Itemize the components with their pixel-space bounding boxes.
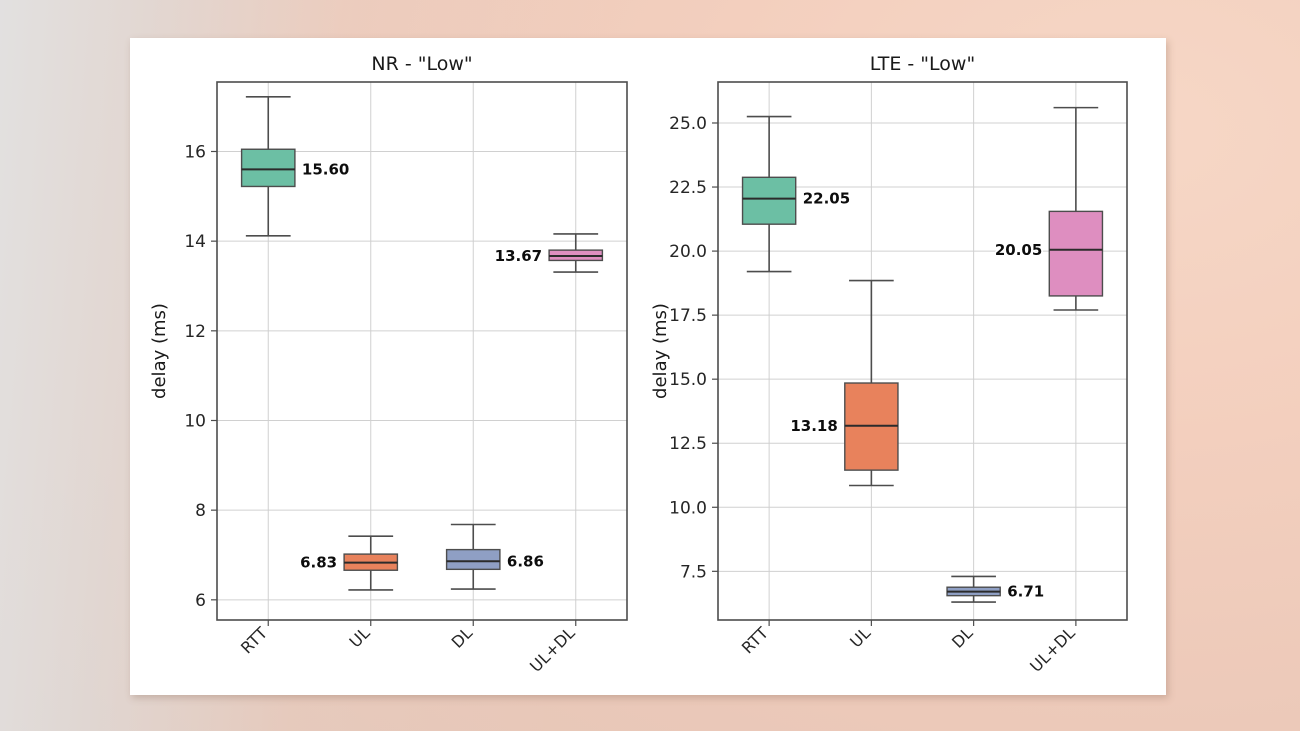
x-tick-label-dl: DL <box>948 623 977 652</box>
median-value-label: 6.83 <box>300 554 337 572</box>
box-body <box>447 550 500 570</box>
boxplot-figure-svg: NR - "Low"6810121416RTTULDLUL+DLdelay (m… <box>130 38 1166 695</box>
median-value-label: 13.67 <box>495 247 542 265</box>
boxplot-ul: 6.83 <box>300 536 397 590</box>
boxplot-dl: 6.71 <box>947 576 1044 602</box>
y-tick-label: 10.0 <box>669 498 707 518</box>
y-tick-label: 6 <box>195 591 206 611</box>
y-axis-label: delay (ms) <box>149 303 170 399</box>
x-tick-label-ul-dl: UL+DL <box>526 623 579 676</box>
y-tick-label: 20.0 <box>669 242 707 262</box>
x-tick-label-ul-dl: UL+DL <box>1026 623 1079 676</box>
x-tick-label-rtt: RTT <box>237 623 271 657</box>
y-tick-label: 15.0 <box>669 370 707 390</box>
y-tick-label: 10 <box>184 411 206 431</box>
boxplot-dl: 6.86 <box>447 525 544 590</box>
panel-right: LTE - "Low"7.510.012.515.017.520.022.525… <box>650 53 1127 676</box>
y-tick-label: 17.5 <box>669 306 707 326</box>
y-tick-label: 16 <box>184 142 206 162</box>
y-tick-label: 25.0 <box>669 114 707 134</box>
boxplot-ul-dl: 20.05 <box>995 108 1103 310</box>
x-tick-label-ul: UL <box>346 623 374 651</box>
box-body <box>1049 211 1102 296</box>
figure-card: NR - "Low"6810121416RTTULDLUL+DLdelay (m… <box>130 38 1166 695</box>
x-tick-label-ul: UL <box>846 623 874 651</box>
median-value-label: 15.60 <box>302 160 349 178</box>
y-axis-label: delay (ms) <box>650 303 671 399</box>
median-value-label: 6.71 <box>1007 583 1044 601</box>
axes-frame <box>718 82 1127 620</box>
y-tick-label: 7.5 <box>680 562 707 582</box>
panel-title-right: LTE - "Low" <box>870 53 975 75</box>
median-value-label: 22.05 <box>803 190 850 208</box>
x-tick-label-dl: DL <box>448 623 477 652</box>
panel-left: NR - "Low"6810121416RTTULDLUL+DLdelay (m… <box>149 53 627 676</box>
y-tick-label: 14 <box>184 232 206 252</box>
figure-canvas: NR - "Low"6810121416RTTULDLUL+DLdelay (m… <box>130 38 1166 695</box>
boxplot-ul: 13.18 <box>790 281 898 486</box>
y-tick-label: 8 <box>195 501 206 521</box>
y-tick-label: 22.5 <box>669 178 707 198</box>
median-value-label: 13.18 <box>790 417 837 435</box>
boxplot-ul-dl: 13.67 <box>495 234 603 272</box>
panel-title-left: NR - "Low" <box>371 53 472 75</box>
x-tick-label-rtt: RTT <box>738 623 772 657</box>
boxplot-rtt: 22.05 <box>743 117 851 272</box>
boxplot-rtt: 15.60 <box>242 97 350 236</box>
y-tick-label: 12 <box>184 322 206 342</box>
median-value-label: 6.86 <box>507 552 544 570</box>
box-body <box>743 177 796 224</box>
box-body <box>242 149 295 186</box>
median-value-label: 20.05 <box>995 241 1042 259</box>
y-tick-label: 12.5 <box>669 434 707 454</box>
